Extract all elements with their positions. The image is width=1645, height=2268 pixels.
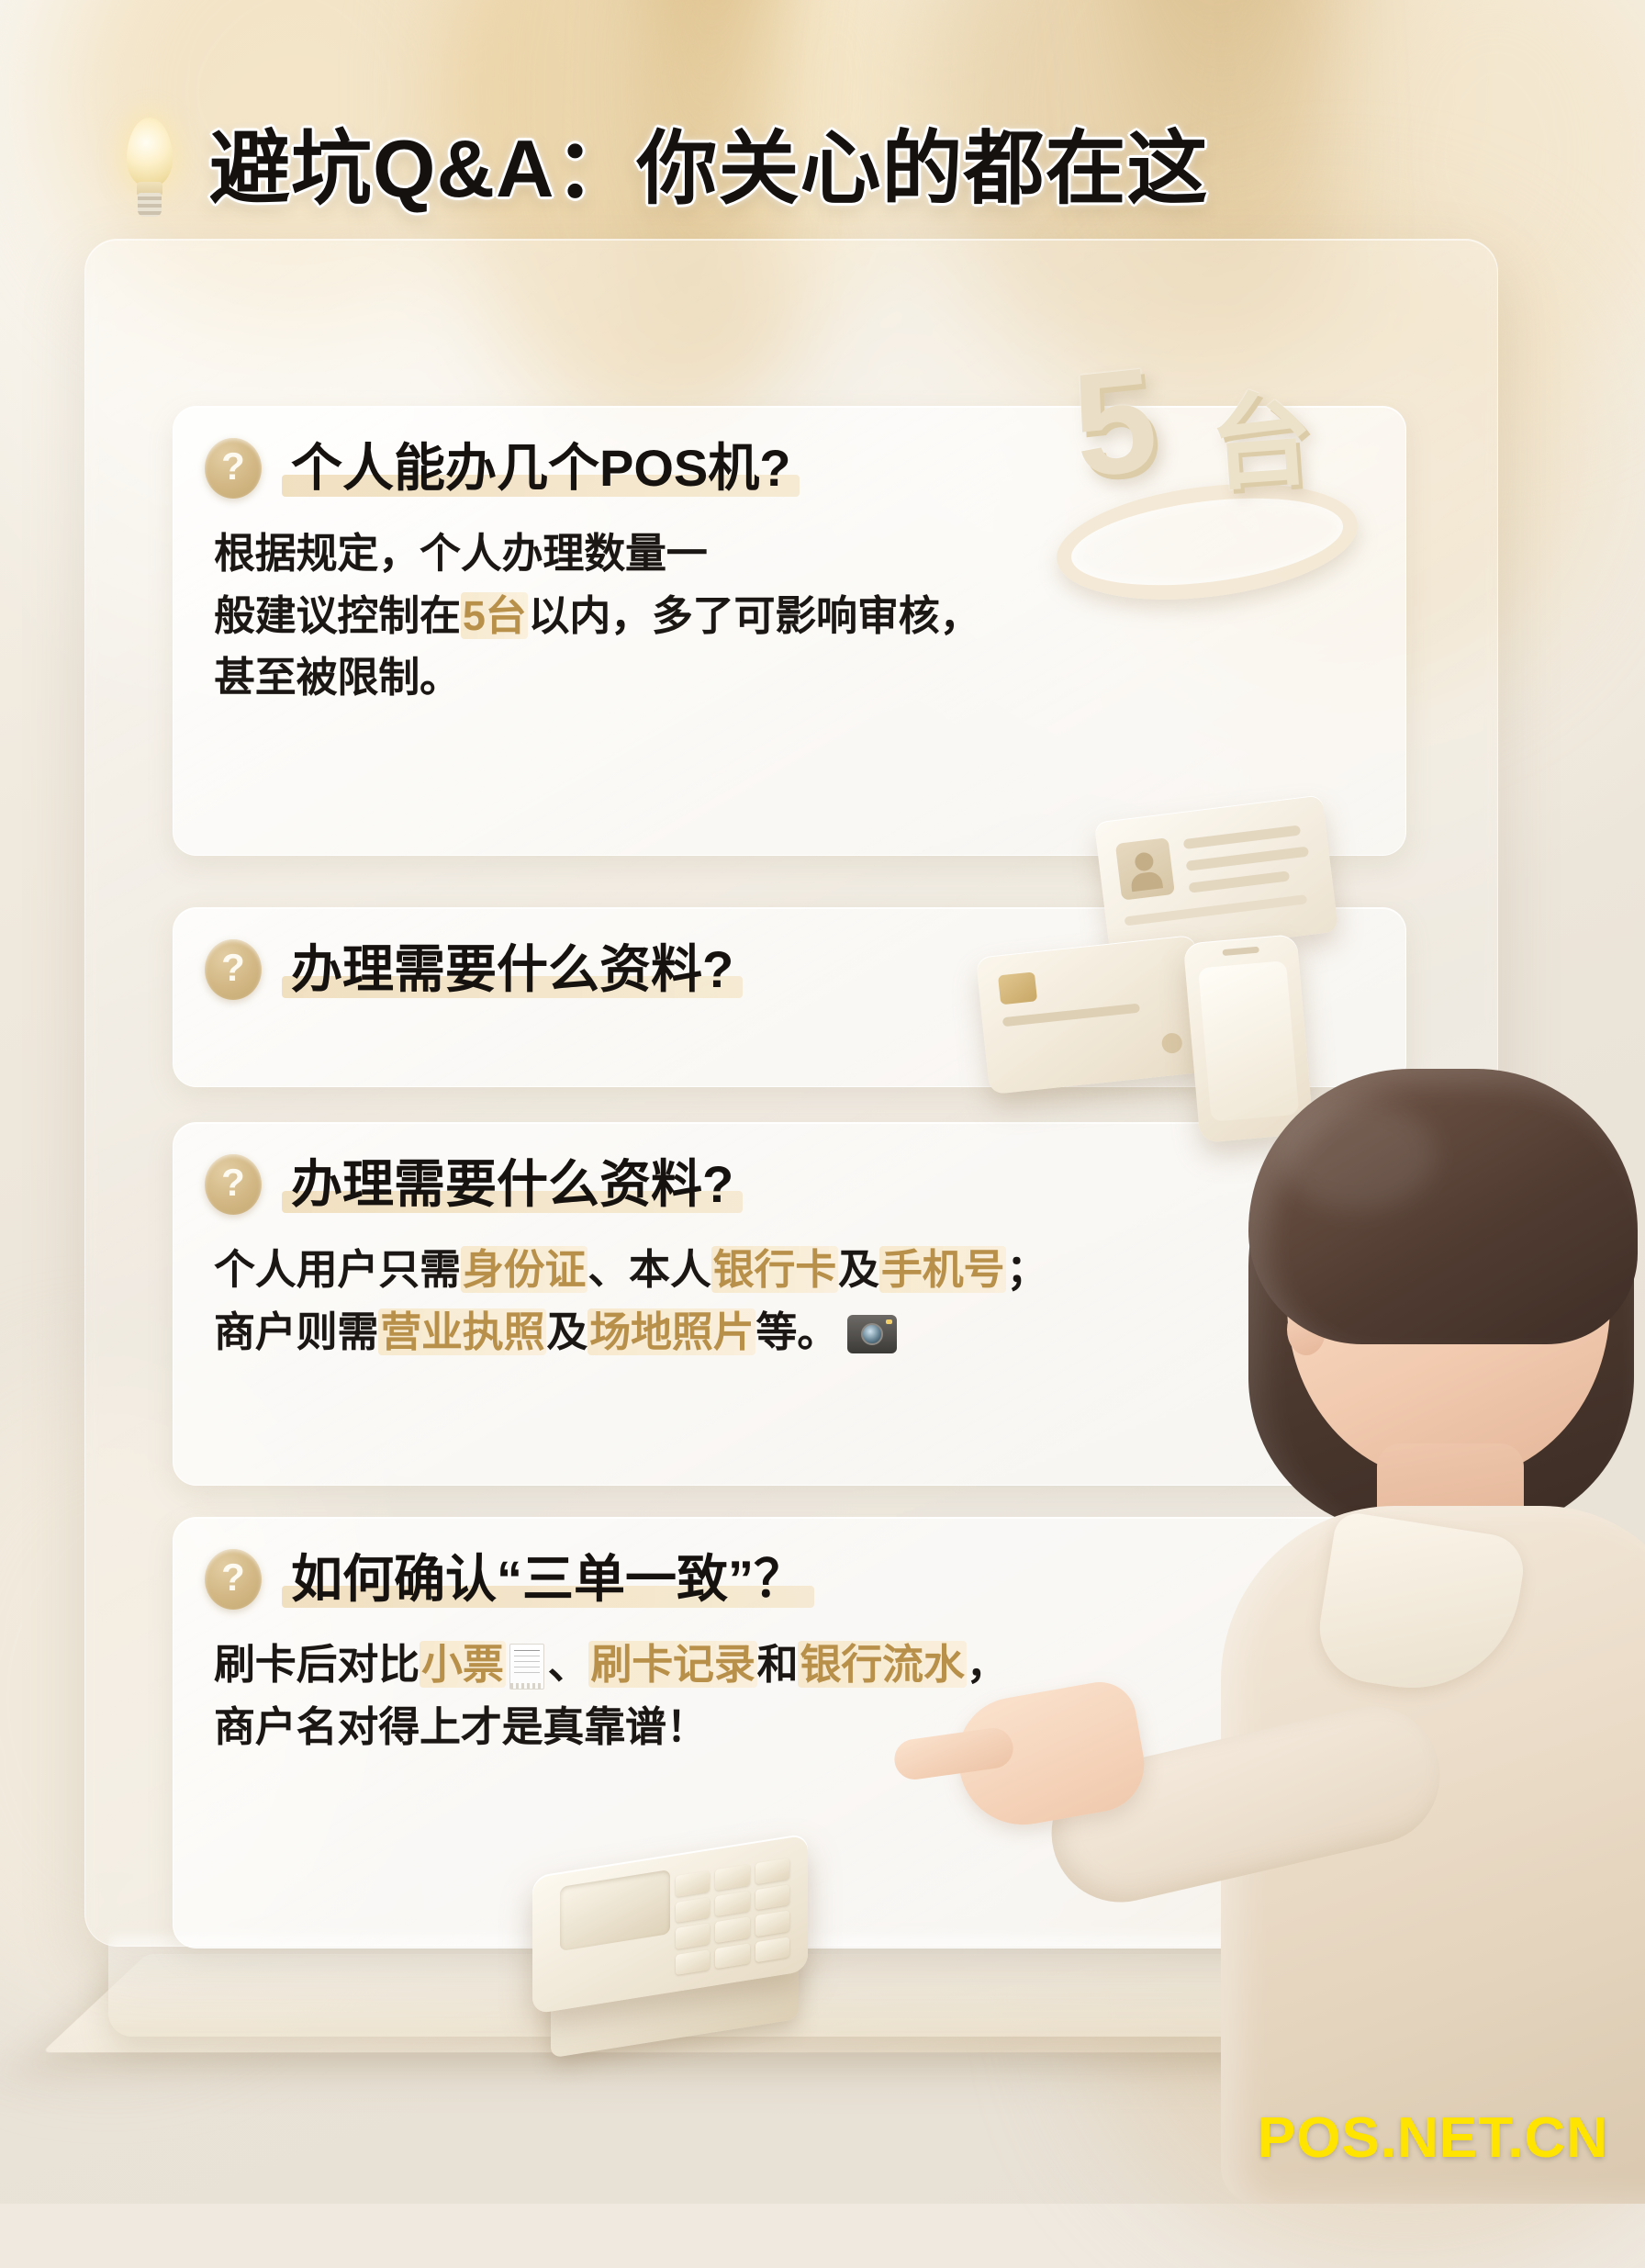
highlighted-term: 银行流水: [798, 1641, 966, 1688]
answer-line: 甚至被限制。: [214, 646, 1369, 709]
answer-run: 刷卡后对比: [214, 1641, 420, 1688]
highlighted-term: 营业执照: [378, 1308, 546, 1355]
question-mark-icon: ?: [205, 438, 262, 499]
answer-run: 商户名对得上才是真靠谱！: [214, 1703, 708, 1750]
page-title: 避坑Q&A：你关心的都在这: [209, 129, 1209, 209]
lightbulb-icon: [121, 118, 178, 220]
question-text: 办理需要什么资料?: [282, 939, 743, 1000]
question-mark-icon: ?: [205, 1154, 262, 1215]
highlighted-term: 身份证: [461, 1246, 587, 1293]
question-text: 如何确认“三单一致”？: [282, 1549, 814, 1610]
highlighted-term: 银行卡: [711, 1246, 838, 1293]
highlighted-term: 5台: [461, 592, 529, 639]
answer-text: 根据规定，个人办理数量一般建议控制在5台以内，多了可影响审核，甚至被限制。: [214, 522, 1369, 709]
receipt-icon: [509, 1644, 544, 1690]
answer-run: 甚至被限制。: [214, 654, 461, 701]
answer-run: 般建议控制在: [214, 592, 461, 639]
answer-run: 、: [548, 1641, 589, 1688]
answer-run: 等。: [755, 1308, 838, 1355]
qa-card[interactable]: ? 个人能办几个POS机? 根据规定，个人办理数量一般建议控制在5台以内，多了可…: [173, 406, 1406, 856]
answer-run: 根据规定，个人办理数量一: [214, 530, 708, 577]
highlighted-term: 刷卡记录: [588, 1641, 756, 1688]
answer-run: 、本人: [587, 1246, 711, 1293]
answer-run: 商户则需: [214, 1308, 378, 1355]
question-text: 个人能办几个POS机?: [282, 438, 800, 499]
site-watermark: POS.NET.CN: [1258, 2105, 1608, 2171]
question-text: 办理需要什么资料?: [282, 1154, 743, 1215]
page-header: 避坑Q&A：你关心的都在这: [121, 118, 1209, 220]
highlighted-term: 场地照片: [587, 1308, 755, 1355]
answer-line: 根据规定，个人办理数量一: [214, 522, 1369, 585]
answer-run: 以内，多了可影响审核，: [528, 592, 980, 639]
answer-run: 和: [757, 1641, 799, 1688]
question-mark-icon: ?: [205, 1549, 262, 1610]
woman-figure-icon: [946, 1028, 1645, 2204]
question-row: ? 办理需要什么资料?: [205, 939, 1369, 1000]
answer-run: 及: [838, 1246, 879, 1293]
question-row: ? 个人能办几个POS机?: [205, 438, 1369, 499]
camera-icon: [847, 1315, 897, 1353]
pos-terminal-icon: [496, 1836, 881, 2075]
answer-run: 个人用户只需: [214, 1246, 461, 1293]
question-mark-icon: ?: [205, 939, 262, 1000]
highlighted-term: 小票: [420, 1641, 506, 1688]
answer-run: 及: [546, 1308, 587, 1355]
answer-line: 般建议控制在5台以内，多了可影响审核，: [214, 585, 1369, 647]
